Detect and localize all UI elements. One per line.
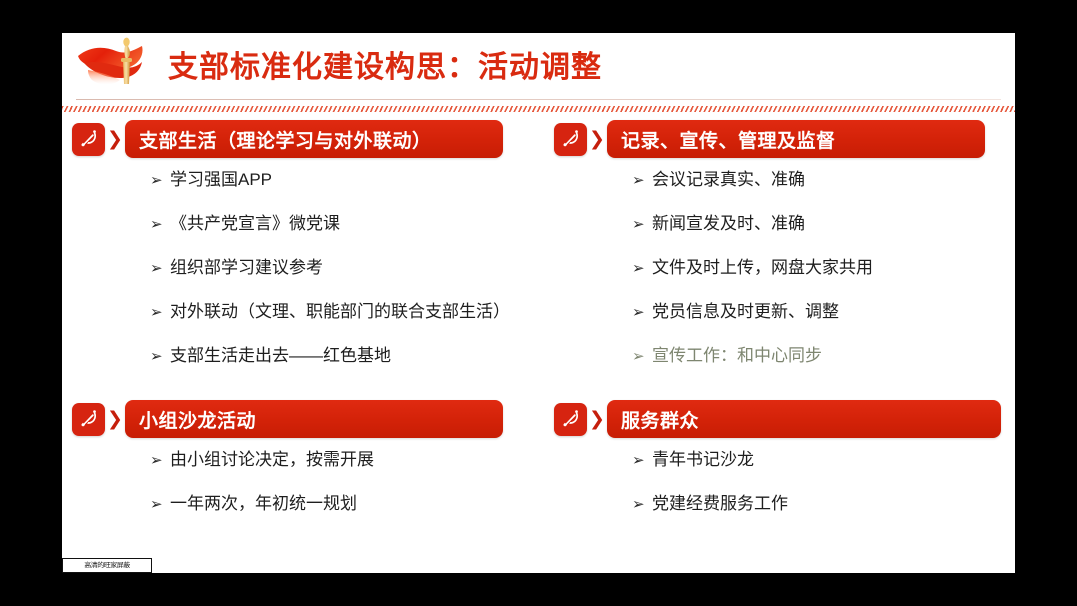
section-branch-life: ❯ 支部生活（理论学习与对外联动） ➢ 学习强国APP ➢ 《共产党宣言》微党课 bbox=[72, 119, 542, 389]
section-group-salon: ❯ 小组沙龙活动 ➢ 由小组讨论决定，按需开展 ➢ 一年两次，年初统一规划 bbox=[72, 399, 542, 537]
bullet-list: ➢ 会议记录真实、准确 ➢ 新闻宣发及时、准确 ➢ 文件及时上传，网盘大家共用 bbox=[554, 169, 1015, 389]
section-record-publicity: ❯ 记录、宣传、管理及监督 ➢ 会议记录真实、准确 ➢ 新闻宣发及时、准确 bbox=[554, 119, 1015, 389]
column-left: ❯ 支部生活（理论学习与对外联动） ➢ 学习强国APP ➢ 《共产党宣言》微党课 bbox=[72, 119, 542, 537]
section-heading: 服务群众 bbox=[607, 406, 699, 433]
list-item[interactable]: ➢ 支部生活走出去——红色基地 bbox=[150, 345, 542, 389]
page-title: 支部标准化建设构思：活动调整 bbox=[168, 42, 602, 86]
list-item[interactable]: ➢ 文件及时上传，网盘大家共用 bbox=[632, 257, 1015, 301]
list-item[interactable]: ➢ 一年两次，年初统一规划 bbox=[150, 493, 542, 537]
bullet-arrow-icon: ➢ bbox=[632, 493, 652, 515]
list-item[interactable]: ➢ 青年书记沙龙 bbox=[632, 449, 1015, 493]
party-emblem-icon bbox=[72, 123, 105, 156]
section-header[interactable]: ❯ 小组沙龙活动 bbox=[72, 399, 542, 439]
watermark-label: 高清的旺家屏蔽 bbox=[84, 561, 130, 569]
list-item[interactable]: ➢ 学习强国APP bbox=[150, 169, 542, 213]
bullet-arrow-icon: ➢ bbox=[632, 257, 652, 279]
list-item[interactable]: ➢ 组织部学习建议参考 bbox=[150, 257, 542, 301]
list-item-label: 党建经费服务工作 bbox=[652, 493, 788, 515]
list-item[interactable]: ➢ 党建经费服务工作 bbox=[632, 493, 1015, 537]
party-emblem-icon bbox=[554, 123, 587, 156]
section-header[interactable]: ❯ 支部生活（理论学习与对外联动） bbox=[72, 119, 542, 159]
list-item-label: 文件及时上传，网盘大家共用 bbox=[652, 257, 873, 279]
bullet-arrow-icon: ➢ bbox=[632, 169, 652, 191]
chevron-right-icon: ❯ bbox=[587, 410, 607, 429]
bullet-arrow-icon: ➢ bbox=[150, 449, 170, 471]
section-banner: 小组沙龙活动 bbox=[125, 400, 503, 438]
section-serve-people: ❯ 服务群众 ➢ 青年书记沙龙 ➢ 党建经费服务工作 bbox=[554, 399, 1015, 537]
list-item-label: 宣传工作：和中心同步 bbox=[652, 345, 822, 367]
section-heading: 小组沙龙活动 bbox=[125, 406, 256, 433]
bullet-list: ➢ 由小组讨论决定，按需开展 ➢ 一年两次，年初统一规划 bbox=[72, 449, 542, 537]
list-item[interactable]: ➢ 新闻宣发及时、准确 bbox=[632, 213, 1015, 257]
section-header[interactable]: ❯ 记录、宣传、管理及监督 bbox=[554, 119, 1015, 159]
screen-backdrop: 支部标准化建设构思：活动调整 bbox=[0, 0, 1077, 606]
chevron-right-icon: ❯ bbox=[105, 410, 125, 429]
column-right: ❯ 记录、宣传、管理及监督 ➢ 会议记录真实、准确 ➢ 新闻宣发及时、准确 bbox=[554, 119, 1015, 537]
list-item[interactable]: ➢ 宣传工作：和中心同步 bbox=[632, 345, 1015, 389]
presentation-slide: 支部标准化建设构思：活动调整 bbox=[62, 33, 1015, 573]
bullet-arrow-icon: ➢ bbox=[150, 301, 170, 323]
bullet-arrow-icon: ➢ bbox=[150, 257, 170, 279]
list-item-label: 组织部学习建议参考 bbox=[170, 257, 323, 279]
list-item-label: 新闻宣发及时、准确 bbox=[652, 213, 805, 235]
section-banner: 记录、宣传、管理及监督 bbox=[607, 120, 985, 158]
red-flag-torch-icon bbox=[74, 36, 160, 92]
chevron-right-icon: ❯ bbox=[105, 130, 125, 149]
list-item-label: 《共产党宣言》微党课 bbox=[170, 213, 340, 235]
list-item[interactable]: ➢ 对外联动（文理、职能部门的联合支部生活） bbox=[150, 301, 542, 345]
bullet-list: ➢ 青年书记沙龙 ➢ 党建经费服务工作 bbox=[554, 449, 1015, 537]
list-item-label: 党员信息及时更新、调整 bbox=[652, 301, 839, 323]
list-item-label: 学习强国APP bbox=[170, 169, 272, 191]
list-item[interactable]: ➢ 党员信息及时更新、调整 bbox=[632, 301, 1015, 345]
party-emblem-icon bbox=[72, 403, 105, 436]
section-heading: 记录、宣传、管理及监督 bbox=[607, 126, 836, 153]
list-item[interactable]: ➢ 由小组讨论决定，按需开展 bbox=[150, 449, 542, 493]
section-header[interactable]: ❯ 服务群众 bbox=[554, 399, 1015, 439]
slide-title-row: 支部标准化建设构思：活动调整 bbox=[62, 33, 1015, 95]
slide-content: ❯ 支部生活（理论学习与对外联动） ➢ 学习强国APP ➢ 《共产党宣言》微党课 bbox=[62, 119, 1015, 573]
bullet-list: ➢ 学习强国APP ➢ 《共产党宣言》微党课 ➢ 组织部学习建议参考 ➢ bbox=[72, 169, 542, 389]
bullet-arrow-icon: ➢ bbox=[632, 213, 652, 235]
watermark-badge: 高清的旺家屏蔽 bbox=[62, 558, 152, 573]
bullet-arrow-icon: ➢ bbox=[632, 301, 652, 323]
section-banner: 支部生活（理论学习与对外联动） bbox=[125, 120, 503, 158]
section-heading: 支部生活（理论学习与对外联动） bbox=[125, 126, 432, 153]
list-item-label: 一年两次，年初统一规划 bbox=[170, 493, 357, 515]
list-item[interactable]: ➢ 《共产党宣言》微党课 bbox=[150, 213, 542, 257]
bullet-arrow-icon: ➢ bbox=[632, 345, 652, 367]
decorative-dashed-band bbox=[62, 106, 1015, 112]
bullet-arrow-icon: ➢ bbox=[150, 493, 170, 515]
bullet-arrow-icon: ➢ bbox=[150, 345, 170, 367]
list-item-label: 青年书记沙龙 bbox=[652, 449, 754, 471]
title-underline bbox=[76, 99, 1001, 100]
list-item-label: 会议记录真实、准确 bbox=[652, 169, 805, 191]
list-item[interactable]: ➢ 会议记录真实、准确 bbox=[632, 169, 1015, 213]
section-banner: 服务群众 bbox=[607, 400, 1001, 438]
bullet-arrow-icon: ➢ bbox=[632, 449, 652, 471]
bullet-arrow-icon: ➢ bbox=[150, 213, 170, 235]
party-emblem-icon bbox=[554, 403, 587, 436]
chevron-right-icon: ❯ bbox=[587, 130, 607, 149]
list-item-label: 由小组讨论决定，按需开展 bbox=[170, 449, 374, 471]
list-item-label: 对外联动（文理、职能部门的联合支部生活） bbox=[170, 301, 510, 323]
bullet-arrow-icon: ➢ bbox=[150, 169, 170, 191]
list-item-label: 支部生活走出去——红色基地 bbox=[170, 345, 391, 367]
